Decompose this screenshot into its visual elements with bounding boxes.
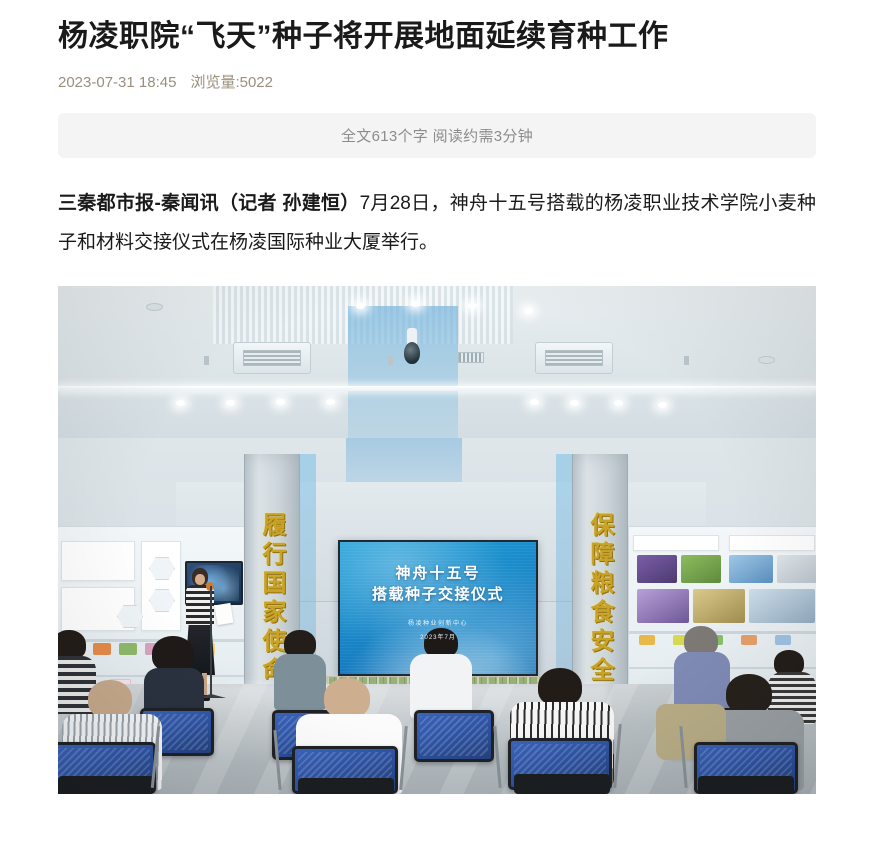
audience-torso [274,654,326,710]
audience-torso [674,652,730,710]
downlight [570,400,579,406]
article-page: 杨凌职院“飞天”种子将开展地面延续育种工作 2023-07-31 18:45 浏… [0,0,875,854]
exhibit-photo [637,589,689,623]
article-meta: 2023-07-31 18:45 浏览量:5022 [58,72,816,94]
sprinkler-3-icon [684,356,689,365]
page-title: 杨凌职院“飞天”种子将开展地面延续育种工作 [58,0,816,60]
chair-seat [298,778,394,794]
audience-head [324,678,370,718]
chair-leg [493,726,501,788]
chair-leg [613,724,622,788]
downlight [524,308,533,314]
audience-head [88,680,132,718]
audience-head [538,668,582,706]
downlight [326,399,335,405]
downlight [658,402,667,408]
ac-vent-small-icon [458,352,484,363]
downlight [530,399,539,405]
downlight [276,399,285,405]
smoke-detector-icon [146,303,163,311]
audience-group [58,626,816,794]
downlight [468,303,477,309]
chair [414,710,494,762]
exhibit-panel [141,541,181,631]
security-camera-icon [404,328,420,366]
audience-head [152,636,194,672]
downlight [411,301,420,307]
sprinkler-icon [204,356,209,365]
view-count: 浏览量:5022 [190,72,273,94]
downlight [356,303,365,309]
article-photo: 履行国家使命 保障粮食安全 神舟十五号 搭载种子交接仪式 杨凌种业创新中心 20… [58,286,816,794]
article-body-paragraph: 三秦都市报-秦闻讯（记者 孙建恒）7月28日，神舟十五号搭载的杨凌职业技术学院小… [58,184,816,262]
led-subtitle-date: 2023年7月 [340,632,536,641]
reading-summary-text: 全文613个字 阅读约需3分钟 [341,125,533,146]
chair-seat [698,776,794,794]
exhibit-panel [729,535,815,551]
led-title-line1: 神舟十五号 [340,564,536,584]
led-title-line2: 搭载种子交接仪式 [340,584,536,605]
ac-vent-left-icon [233,342,311,374]
chair-seat [58,776,154,794]
ac-vent-right-icon [535,342,613,374]
reading-summary-bar: 全文613个字 阅读约需3分钟 [58,113,816,158]
downlight [614,400,623,406]
presenter-face [195,574,205,585]
exhibit-photo [749,589,815,623]
led-subtitle-org: 杨凌种业创新中心 [340,618,536,627]
downlight [176,400,185,406]
exhibit-photo [637,555,677,583]
sprinkler-2-icon [388,356,393,365]
led-screen-content: 神舟十五号 搭载种子交接仪式 杨凌种业创新中心 2023年7月 [340,542,536,641]
ceiling-blue-panel [348,306,458,438]
ceiling-light-strip [58,386,816,391]
exhibit-photo [777,555,816,583]
exhibit-photo [681,555,721,583]
article-container: 杨凌职院“飞天”种子将开展地面延续育种工作 2023-07-31 18:45 浏… [58,0,816,794]
publish-datetime: 2023-07-31 18:45 [58,72,176,94]
audience-head [726,674,772,714]
article-byline: 三秦都市报-秦闻讯（记者 孙建恒） [58,193,360,214]
exhibit-photo [693,589,745,623]
exhibit-panel [61,541,135,581]
presenter-script-paper [215,603,234,625]
exhibit-panel [633,535,719,551]
chair-seat [514,774,610,794]
photo-scene: 履行国家使命 保障粮食安全 神舟十五号 搭载种子交接仪式 杨凌种业创新中心 20… [58,286,816,794]
audience-torso [410,654,472,718]
downlight [226,400,235,406]
exhibit-photo [729,555,773,583]
smoke-detector-2-icon [758,356,775,364]
